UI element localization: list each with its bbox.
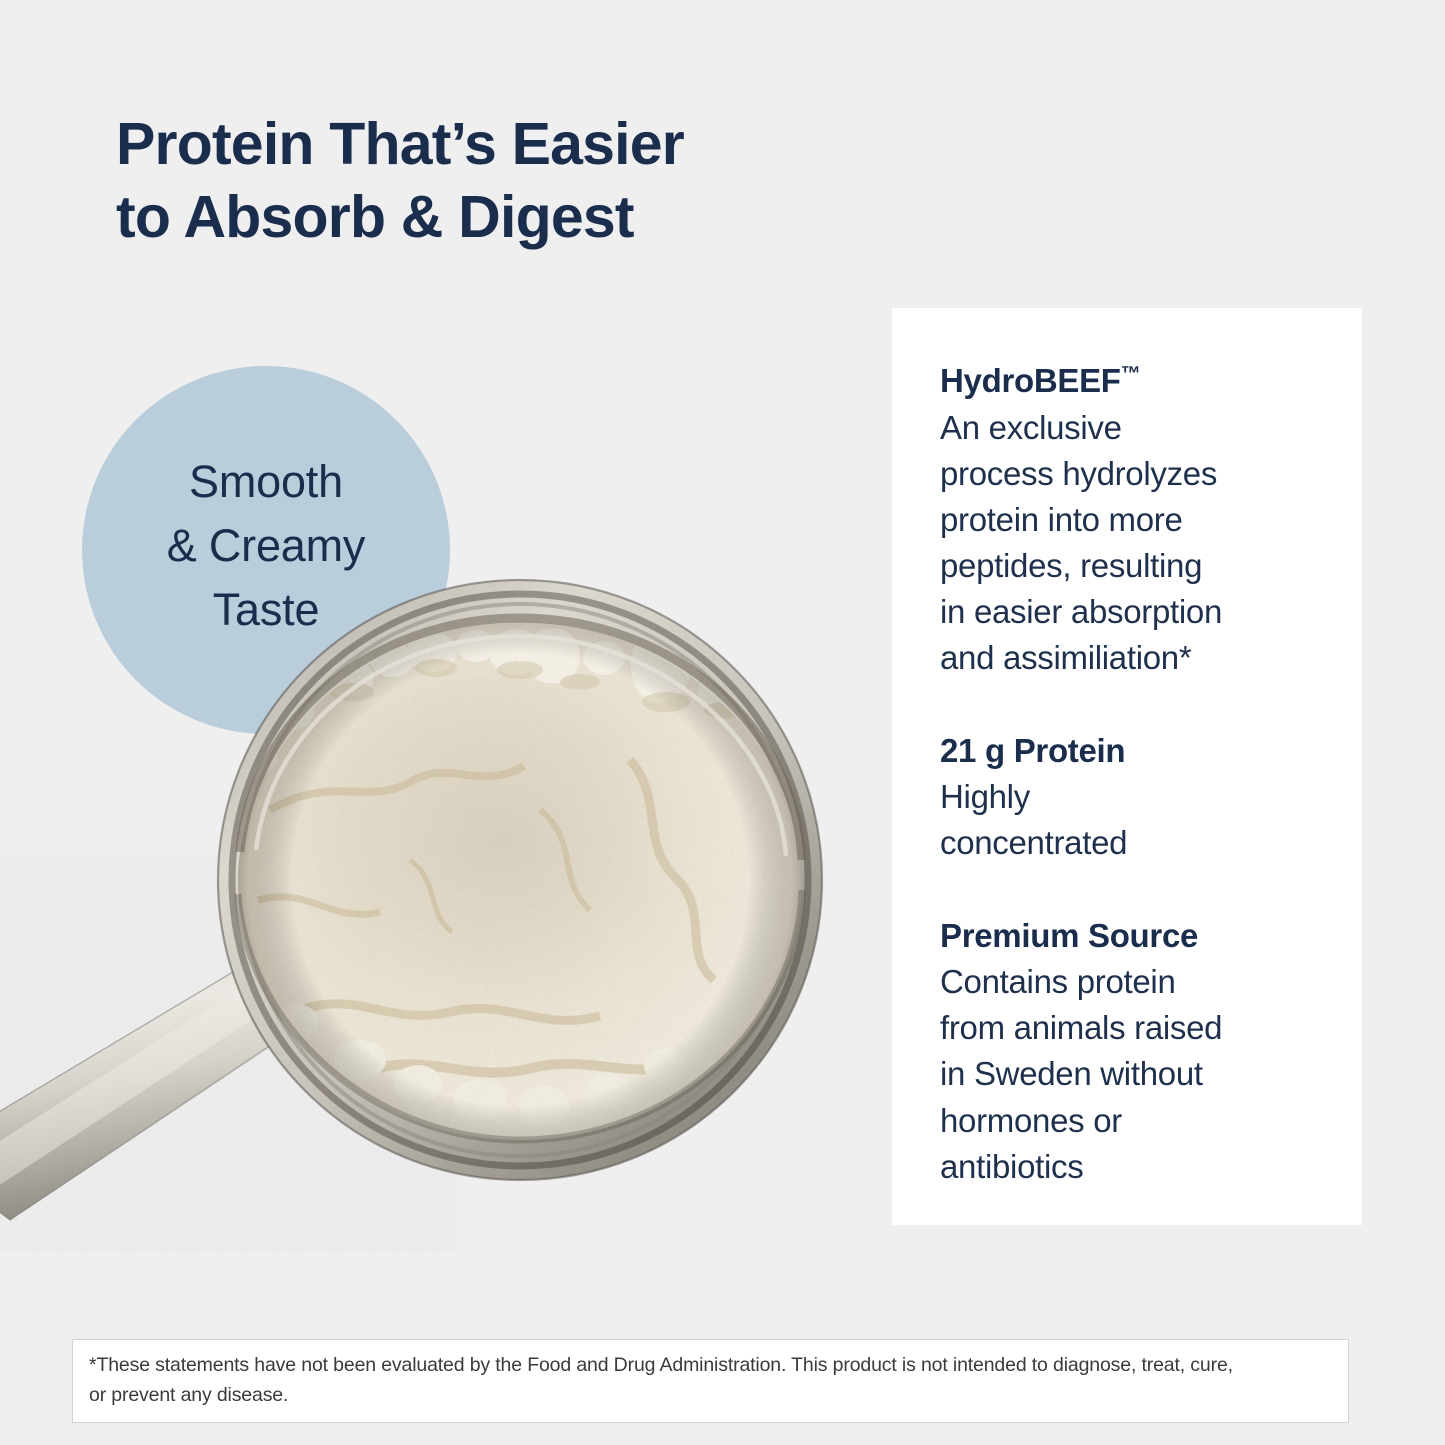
product-infographic: { "colors": { "background": "#efeff0", "…: [0, 0, 1445, 1445]
feature-body-line: antibiotics: [940, 1144, 1330, 1190]
feature-title: Premium Source: [940, 913, 1330, 959]
disclaimer-line-1: *These statements have not been evaluate…: [89, 1351, 1334, 1381]
feature-body-line: and assimiliation*: [940, 635, 1330, 681]
feature-body-line: Highly: [940, 774, 1330, 820]
feature-body-line: Contains protein: [940, 959, 1330, 1005]
feature-body-line: An exclusive: [940, 405, 1330, 451]
feature-body-line: peptides, resulting: [940, 543, 1330, 589]
fda-disclaimer-box: *These statements have not been evaluate…: [72, 1339, 1349, 1423]
feature-title: HydroBEEF™: [940, 358, 1330, 404]
feature-hydrobeef: HydroBEEF™ An exclusive process hydrolyz…: [940, 358, 1330, 682]
feature-premium-source: Premium Source Contains protein from ani…: [940, 913, 1330, 1190]
feature-list: HydroBEEF™ An exclusive process hydrolyz…: [940, 358, 1330, 1190]
feature-title: 21 g Protein: [940, 728, 1330, 774]
feature-body-line: protein into more: [940, 497, 1330, 543]
feature-body-line: process hydrolyzes: [940, 451, 1330, 497]
headline-line-2: to Absorb & Digest: [116, 181, 936, 254]
badge-line-1: Smooth: [82, 450, 450, 514]
feature-body-line: concentrated: [940, 820, 1330, 866]
feature-title-text: HydroBEEF: [940, 362, 1121, 399]
disclaimer-line-2: or prevent any disease.: [89, 1381, 1334, 1411]
feature-body-line: hormones or: [940, 1098, 1330, 1144]
feature-title-text: Premium Source: [940, 917, 1198, 954]
feature-body-line: in Sweden without: [940, 1051, 1330, 1097]
trademark-icon: ™: [1121, 363, 1141, 385]
feature-body-line: in easier absorption: [940, 589, 1330, 635]
feature-body-line: from animals raised: [940, 1005, 1330, 1051]
feature-body: An exclusive process hydrolyzes protein …: [940, 405, 1330, 682]
feature-title-text: 21 g Protein: [940, 732, 1125, 769]
feature-body: Contains protein from animals raised in …: [940, 959, 1330, 1190]
fda-disclaimer-text: *These statements have not been evaluate…: [89, 1351, 1334, 1410]
feature-panel: HydroBEEF™ An exclusive process hydrolyz…: [892, 308, 1362, 1225]
page-title: Protein That’s Easier to Absorb & Digest: [116, 108, 936, 253]
feature-body: Highly concentrated: [940, 774, 1330, 866]
headline-line-1: Protein That’s Easier: [116, 108, 936, 181]
feature-protein-amount: 21 g Protein Highly concentrated: [940, 728, 1330, 867]
scoop-illustration: [0, 560, 840, 1260]
protein-powder-scoop-image: [0, 560, 840, 1260]
